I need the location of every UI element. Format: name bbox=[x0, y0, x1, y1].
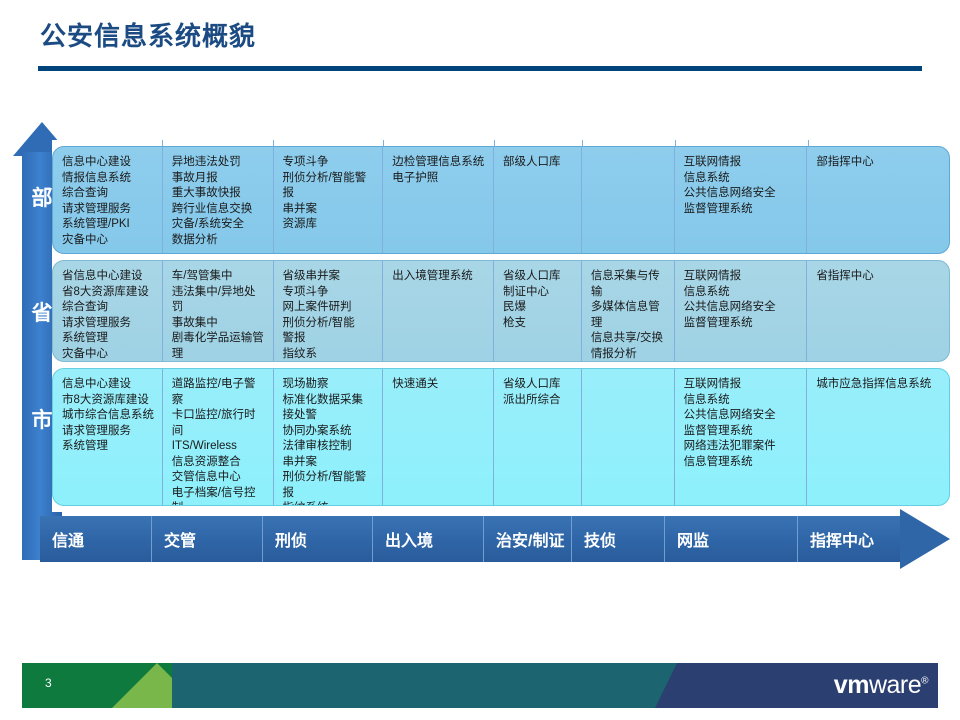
title-divider bbox=[38, 66, 922, 71]
matrix-cell: 现场勘察 标准化数据采集 接处警 协同办案系统 法律审核控制 串并案 刑侦分析/… bbox=[274, 369, 384, 505]
matrix-cell bbox=[582, 369, 675, 505]
page-number: 3 bbox=[45, 676, 52, 690]
column-label-xintong: 信通 bbox=[40, 516, 152, 562]
matrix-row-shi: 信息中心建设 市8大资源库建设 城市综合信息系统 请求管理服务 系统管理 道路监… bbox=[52, 368, 950, 506]
matrix-panel: 信息中心建设 情报信息系统 综合查询 请求管理服务 系统管理/PKI 灾备中心 … bbox=[52, 140, 950, 512]
matrix-cell: 互联网情报 信息系统 公共信息网络安全 监督管理系统 bbox=[675, 261, 808, 361]
matrix-cell: 专项斗争 刑侦分析/智能警报 串并案 资源库 bbox=[274, 147, 384, 253]
matrix-cell: 省指挥中心 bbox=[807, 261, 949, 361]
column-label-churujing: 出入境 bbox=[373, 516, 484, 562]
footer-teal-band bbox=[172, 663, 677, 708]
matrix-cell: 边检管理信息系统 电子护照 bbox=[383, 147, 494, 253]
diagram-stage: 部 省 市 信息中心建设 情报信息系统 综合查询 请求管理服务 系统管理/PKI… bbox=[0, 110, 960, 570]
column-label-jizhen: 技侦 bbox=[572, 516, 665, 562]
matrix-cell: 省级串并案 专项斗争 网上案件研判 刑侦分析/智能 警报 指纹系 bbox=[274, 261, 384, 361]
page-title: 公安信息系统概貌 bbox=[40, 16, 256, 53]
matrix-cell: 信息中心建设 情报信息系统 综合查询 请求管理服务 系统管理/PKI 灾备中心 bbox=[53, 147, 163, 253]
matrix-cell: 互联网情报 信息系统 公共信息网络安全 监督管理系统 网络违法犯罪案件 信息管理… bbox=[675, 369, 808, 505]
matrix-cell: 快速通关 bbox=[383, 369, 494, 505]
matrix-cell: 信息中心建设 市8大资源库建设 城市综合信息系统 请求管理服务 系统管理 bbox=[53, 369, 163, 505]
business-domain-arrow: 信通 交管 刑侦 出入境 治安/制证 技侦 网监 指挥中心 bbox=[40, 516, 950, 562]
column-label-zhihuizhongxin: 指挥中心 bbox=[798, 516, 902, 562]
matrix-row-bu: 信息中心建设 情报信息系统 综合查询 请求管理服务 系统管理/PKI 灾备中心 … bbox=[52, 146, 950, 254]
matrix-cell: 出入境管理系统 bbox=[383, 261, 494, 361]
column-label-wangjian: 网监 bbox=[665, 516, 798, 562]
footer-navy-slant bbox=[655, 663, 677, 708]
matrix-cell: 信息采集与传输 多媒体信息管理 信息共享/交换 情报分析 bbox=[582, 261, 675, 361]
matrix-cell: 省级人口库 制证中心 民爆 枪支 bbox=[494, 261, 582, 361]
vmware-logo: vmware® bbox=[834, 671, 928, 700]
column-label-row: 信通 交管 刑侦 出入境 治安/制证 技侦 网监 指挥中心 bbox=[40, 516, 902, 562]
matrix-cell: 异地违法处罚 事故月报 重大事故快报 跨行业信息交换 灾备/系统安全 数据分析 bbox=[163, 147, 274, 253]
column-label-zhian: 治安/制证 bbox=[484, 516, 572, 562]
matrix-cell: 道路监控/电子警察 卡口监控/旅行时间 ITS/Wireless 信息资源整合 … bbox=[163, 369, 274, 505]
matrix-cell: 省级人口库 派出所综合 bbox=[494, 369, 582, 505]
matrix-row-sheng: 省信息中心建设 省8大资源库建设 综合查询 请求管理服务 系统管理 灾备中心 车… bbox=[52, 260, 950, 362]
registered-mark-icon: ® bbox=[921, 676, 928, 687]
matrix-cell: 互联网情报 信息系统 公共信息网络安全 监督管理系统 bbox=[675, 147, 808, 253]
slide-footer: 3 vmware® bbox=[0, 663, 960, 708]
matrix-cell: 部级人口库 bbox=[494, 147, 582, 253]
matrix-cell bbox=[582, 147, 675, 253]
matrix-cell: 城市应急指挥信息系统 bbox=[807, 369, 949, 505]
matrix-cell: 省信息中心建设 省8大资源库建设 综合查询 请求管理服务 系统管理 灾备中心 bbox=[53, 261, 163, 361]
matrix-cell: 车/驾管集中 违法集中/异地处罚 事故集中 剧毒化学品运输管理 高速公路监控管理 bbox=[163, 261, 274, 361]
logo-bold-part: vm bbox=[834, 671, 869, 699]
column-label-xingzhen: 刑侦 bbox=[263, 516, 373, 562]
logo-light-part: ware bbox=[869, 671, 921, 699]
matrix-cell: 部指挥中心 bbox=[807, 147, 949, 253]
arrow-right-icon bbox=[900, 509, 950, 569]
column-label-jiaoguan: 交管 bbox=[152, 516, 263, 562]
